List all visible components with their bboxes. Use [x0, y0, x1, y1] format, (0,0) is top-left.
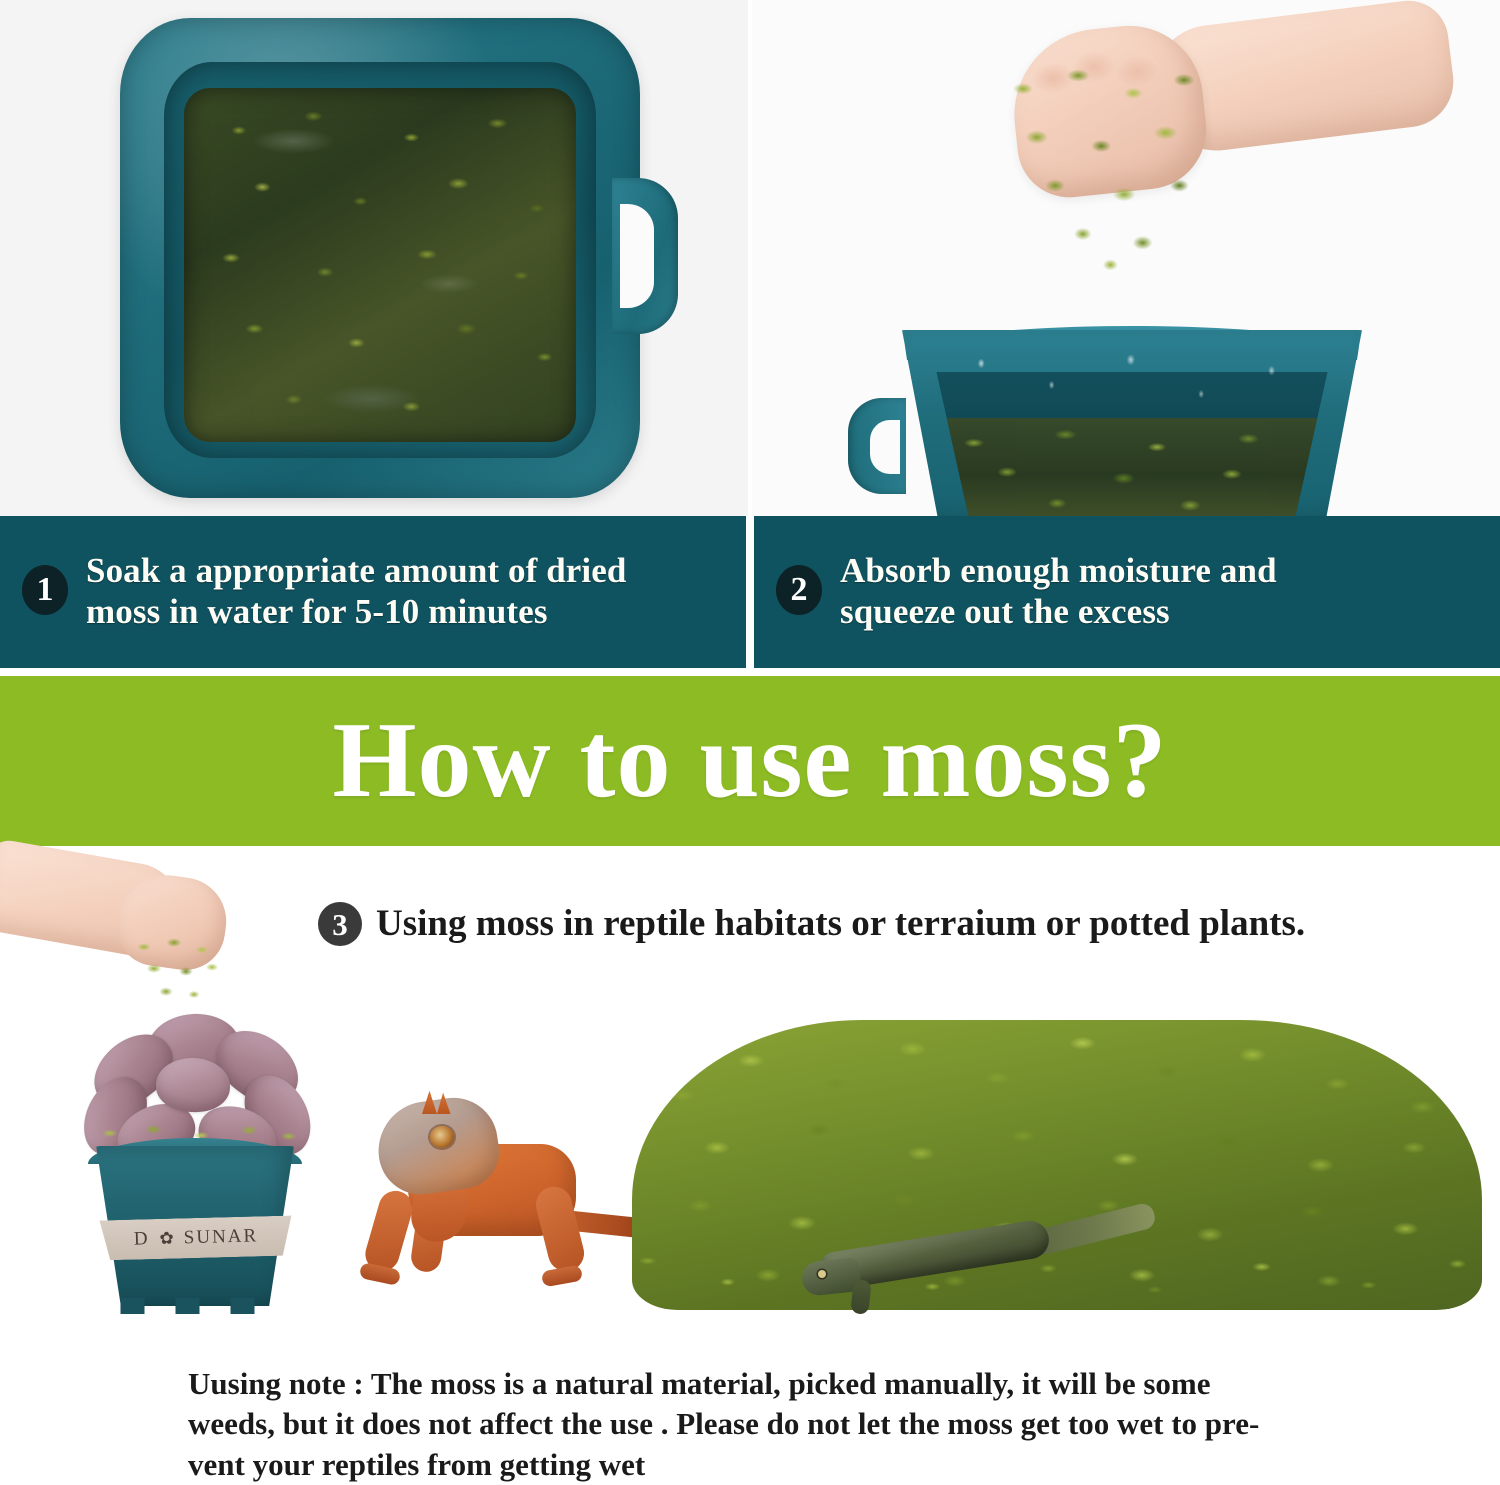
step-3-text: Using moss in reptile habitats or terrai…: [376, 904, 1305, 945]
pot-label-brand-text: SUNAR: [183, 1225, 258, 1249]
page-title: How to use moss?: [332, 707, 1167, 815]
step-2-banner: 2 Absorb enough moisture and squeeze out…: [754, 516, 1500, 668]
step-3-badge: 3: [318, 902, 362, 946]
photo-soaking-moss: [0, 0, 748, 516]
step-2-badge: 2: [776, 565, 822, 615]
basin-handle: [612, 178, 678, 334]
moss-water-mix: [924, 418, 1340, 516]
water-droplets: [902, 340, 1342, 430]
headline-banner: How to use moss?: [0, 676, 1500, 846]
pot-label-left-text: D: [134, 1228, 150, 1250]
step-2-text: Absorb enough moisture and squeeze out t…: [840, 551, 1277, 633]
step-1-banner: 1 Soak a appropriate amount of dried mos…: [0, 516, 746, 668]
bottom-section: 3 Using moss in reptile habitats or terr…: [0, 846, 1500, 1477]
step-banner-divider: [746, 516, 754, 668]
note-line-2: weeds, but it does not affect the use . …: [188, 1404, 1340, 1444]
salamander-leg: [850, 1279, 871, 1315]
usage-note: Uusing note : The moss is a natural mate…: [188, 1364, 1340, 1485]
salamander-icon: [800, 1202, 1160, 1318]
basin-interior: [164, 62, 596, 458]
basin-top-view-icon: [120, 18, 640, 498]
dropped-moss-clump: [128, 934, 228, 1006]
step-3-line: 3 Using moss in reptile habitats or terr…: [318, 898, 1478, 950]
iguana-leg: [361, 1187, 416, 1275]
note-line-3: vent your reptiles from getting wet: [188, 1445, 1340, 1485]
flower-icon: ✿: [159, 1229, 174, 1249]
step-banner-row: 1 Soak a appropriate amount of dried mos…: [0, 516, 1500, 668]
pot-label: D ✿ SUNAR: [98, 1215, 295, 1260]
step-1-line-1: Soak a appropriate amount of dried: [86, 551, 626, 592]
step-1-line-2: moss in water for 5-10 minutes: [86, 592, 626, 633]
salamander-eye: [818, 1270, 826, 1278]
note-line-1: Uusing note : The moss is a natural mate…: [188, 1364, 1340, 1404]
step-1-text: Soak a appropriate amount of dried moss …: [86, 551, 626, 633]
iguana-icon: [356, 1082, 656, 1292]
squeezed-moss-clump: [1000, 58, 1230, 278]
top-image-row: [0, 0, 1500, 516]
step-2-line-1: Absorb enough moisture and: [840, 551, 1277, 592]
iguana-eye: [430, 1126, 454, 1148]
salamander-tail: [1031, 1201, 1158, 1256]
step-1-badge: 1: [22, 565, 68, 615]
step-2-line-2: squeeze out the excess: [840, 592, 1277, 633]
iguana-foot: [541, 1265, 583, 1288]
photo-squeezing-moss: [752, 0, 1500, 516]
pot-feet: [110, 1298, 282, 1314]
basin-handle-left: [848, 398, 906, 494]
water-sheen: [164, 62, 596, 458]
